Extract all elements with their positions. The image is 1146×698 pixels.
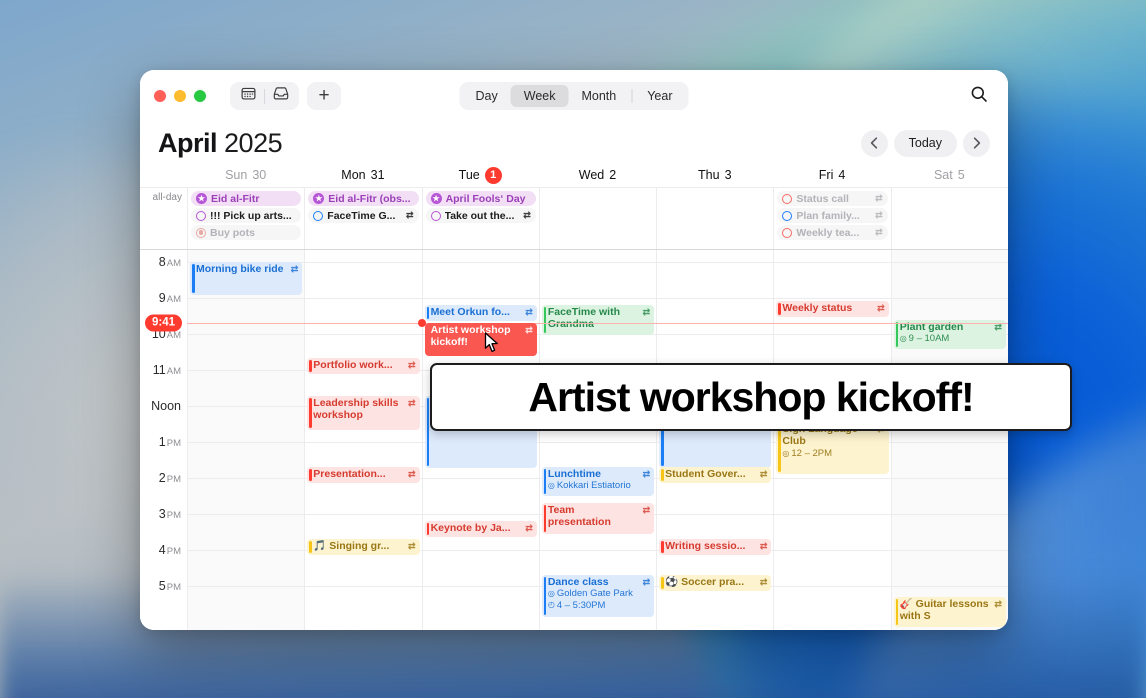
event-title: Meet Orkun fo... bbox=[431, 306, 523, 318]
hour-gridline bbox=[305, 586, 421, 587]
repeat-icon: ⇄ bbox=[408, 398, 416, 409]
location-pin-icon: ◎ bbox=[900, 334, 907, 343]
event-block[interactable]: Portfolio work...⇄ bbox=[307, 358, 419, 374]
day-header-wed[interactable]: Wed2 bbox=[539, 166, 656, 187]
hour-gridline bbox=[540, 298, 656, 299]
event-color-bar bbox=[778, 424, 781, 472]
event-color-bar bbox=[661, 469, 664, 481]
clock-icon: ◴ bbox=[548, 600, 555, 609]
repeat-icon: ⇄ bbox=[994, 599, 1002, 610]
all-day-event[interactable]: ★Eid al-Fitr bbox=[191, 191, 301, 206]
event-title: ⚽ Soccer pra... bbox=[665, 576, 757, 588]
all-day-column-3[interactable] bbox=[539, 188, 656, 249]
hour-gridline bbox=[774, 550, 890, 551]
day-column-tue[interactable]: Meet Orkun fo...⇄Artist workshop kickoff… bbox=[422, 250, 539, 630]
day-header-number: 2 bbox=[609, 168, 616, 182]
all-day-event-title: Weekly tea... bbox=[796, 227, 871, 239]
day-header-sat[interactable]: Sat5 bbox=[891, 166, 1008, 187]
hour-gridline bbox=[188, 406, 304, 407]
hour-label-meridiem: PM bbox=[167, 546, 181, 557]
all-day-event[interactable]: Plan family...⇄ bbox=[777, 208, 887, 223]
hour-gridline bbox=[892, 478, 1008, 479]
location-pin-icon: ◎ bbox=[548, 589, 555, 598]
holiday-star-icon: ★ bbox=[313, 193, 324, 204]
event-color-bar bbox=[427, 523, 430, 535]
event-color-bar bbox=[544, 577, 547, 615]
day-column-wed[interactable]: FaceTime with Grandma⇄Lunchtime⇄◎Kokkari… bbox=[539, 250, 656, 630]
event-block[interactable]: FaceTime with Grandma⇄ bbox=[542, 305, 654, 335]
event-block[interactable]: Team presentation⇄ bbox=[542, 503, 654, 534]
view-mode-month[interactable]: Month bbox=[568, 85, 629, 107]
event-title: Dance class bbox=[548, 576, 640, 588]
all-day-event[interactable]: Weekly tea...⇄ bbox=[777, 225, 887, 240]
hour-label: 1PM bbox=[159, 435, 181, 449]
current-time-line bbox=[187, 323, 1008, 324]
all-day-row: all-day ★Eid al-Fitr!!! Pick up arts...B… bbox=[140, 188, 1008, 250]
event-block[interactable]: Student Gover...⇄ bbox=[659, 467, 771, 483]
day-header-row: Sun30Mon31Tue1Wed2Thu3Fri4Sat5 bbox=[140, 166, 1008, 188]
event-tooltip: Artist workshop kickoff! bbox=[430, 363, 1072, 431]
event-block[interactable]: Morning bike ride⇄ bbox=[190, 262, 302, 295]
event-title: Writing sessio... bbox=[665, 540, 757, 552]
view-mode-week[interactable]: Week bbox=[511, 85, 569, 107]
hour-gridline bbox=[892, 298, 1008, 299]
hour-label-meridiem: AM bbox=[167, 258, 181, 269]
previous-week-button[interactable] bbox=[861, 130, 888, 157]
hour-gridline bbox=[423, 478, 539, 479]
repeat-icon: ⇄ bbox=[760, 577, 768, 588]
inbox-icon bbox=[273, 86, 289, 106]
event-location: ◎Kokkari Estiatorio bbox=[548, 480, 650, 491]
repeat-icon: ⇄ bbox=[406, 210, 414, 221]
event-title: FaceTime with Grandma bbox=[548, 306, 640, 331]
repeat-icon: ⇄ bbox=[525, 523, 533, 534]
event-meta-text: Kokkari Estiatorio bbox=[557, 480, 631, 491]
hour-gridline bbox=[657, 298, 773, 299]
hour-label: Noon bbox=[151, 399, 181, 413]
event-color-bar bbox=[309, 469, 312, 481]
all-day-event[interactable]: !!! Pick up arts... bbox=[191, 208, 301, 223]
event-title: Keynote by Ja... bbox=[431, 522, 523, 534]
day-header-number: 31 bbox=[371, 168, 385, 182]
calendar-grid[interactable]: 8AM9AM10AM11AMNoon1PM2PM3PM4PM5PM Mornin… bbox=[140, 250, 1008, 630]
event-block[interactable]: Presentation...⇄ bbox=[307, 467, 419, 483]
day-header-number: 3 bbox=[725, 168, 732, 182]
hour-label-meridiem: PM bbox=[167, 582, 181, 593]
all-day-event-title: Status call bbox=[796, 193, 871, 205]
event-color-bar bbox=[427, 307, 430, 319]
day-header-name: Sun bbox=[225, 168, 247, 182]
event-block[interactable]: 🎸 Guitar lessons with S⇄ bbox=[894, 597, 1006, 627]
tooltip-text: Artist workshop kickoff! bbox=[528, 374, 973, 421]
segment-divider bbox=[631, 89, 632, 103]
repeat-icon: ⇄ bbox=[760, 541, 768, 552]
event-color-bar bbox=[309, 541, 312, 553]
repeat-icon: ⇄ bbox=[875, 210, 883, 221]
hour-label-meridiem: AM bbox=[167, 330, 181, 341]
event-meta2-text: 4 – 5:30PM bbox=[557, 600, 606, 611]
repeat-icon: ⇄ bbox=[525, 325, 533, 336]
inbox-button[interactable] bbox=[265, 84, 297, 108]
event-title: Artist workshop kickoff! bbox=[431, 324, 523, 349]
event-color-bar bbox=[661, 541, 664, 553]
repeat-icon: ⇄ bbox=[643, 505, 651, 516]
hour-label-meridiem: PM bbox=[167, 510, 181, 521]
event-color-bar bbox=[544, 307, 547, 333]
repeat-icon: ⇄ bbox=[523, 210, 531, 221]
title-year: 2025 bbox=[224, 128, 282, 158]
event-block[interactable]: 🎵 Singing gr...⇄ bbox=[307, 539, 419, 555]
all-day-event[interactable]: Buy pots bbox=[191, 225, 301, 240]
repeat-icon: ⇄ bbox=[760, 469, 768, 480]
day-column-mon[interactable]: Portfolio work...⇄Leadership skills work… bbox=[304, 250, 421, 630]
event-block[interactable]: Weekly status⇄ bbox=[776, 301, 888, 317]
event-color-bar bbox=[544, 469, 547, 494]
zoom-button[interactable] bbox=[194, 90, 206, 102]
location-pin-icon: ◎ bbox=[548, 481, 555, 490]
chevron-left-icon bbox=[870, 137, 878, 149]
date-navigation: Today bbox=[861, 130, 990, 157]
event-location: ◎9 – 10AM bbox=[900, 333, 1002, 344]
calendar-icon bbox=[241, 86, 256, 106]
repeat-icon: ⇄ bbox=[643, 469, 651, 480]
repeat-icon: ⇄ bbox=[525, 307, 533, 318]
hour-gridline bbox=[540, 262, 656, 263]
all-day-event[interactable]: Take out the...⇄ bbox=[426, 208, 536, 223]
event-meta-text: Golden Gate Park bbox=[557, 588, 633, 599]
view-mode-segmented-control: Day Week Month Year bbox=[460, 82, 689, 110]
event-title: Morning bike ride bbox=[196, 263, 288, 275]
day-column-sat[interactable]: Plant garden⇄◎9 – 10AM🎸 Guitar lessons w… bbox=[891, 250, 1008, 630]
all-day-event[interactable]: FaceTime G...⇄ bbox=[308, 208, 418, 223]
day-header-mon[interactable]: Mon31 bbox=[304, 166, 421, 187]
day-header-number: 5 bbox=[958, 168, 965, 182]
hour-label: 5PM bbox=[159, 579, 181, 593]
holiday-star-icon: ★ bbox=[196, 193, 207, 204]
event-title: Portfolio work... bbox=[313, 359, 405, 371]
repeat-icon: ⇄ bbox=[408, 360, 416, 371]
all-day-event[interactable]: ★Eid al-Fitr (obs... bbox=[308, 191, 418, 206]
event-meta-text: 9 – 10AM bbox=[909, 333, 950, 344]
calendar-window: + Day Week Month Year April 2025 bbox=[140, 70, 1008, 630]
all-day-column-4[interactable] bbox=[656, 188, 773, 249]
all-day-column-1[interactable]: ★Eid al-Fitr (obs...FaceTime G...⇄ bbox=[304, 188, 421, 249]
hour-label: 11AM bbox=[153, 363, 181, 377]
day-header-name: Sat bbox=[934, 168, 953, 182]
page-title: April 2025 bbox=[158, 128, 282, 159]
hour-label: 3PM bbox=[159, 507, 181, 521]
hour-gridline bbox=[188, 442, 304, 443]
search-icon bbox=[970, 85, 988, 108]
grid-columns: 8AM9AM10AM11AMNoon1PM2PM3PM4PM5PM Mornin… bbox=[140, 250, 1008, 630]
all-day-event[interactable]: ★April Fools‘ Day bbox=[426, 191, 536, 206]
all-day-column-2[interactable]: ★April Fools‘ DayTake out the...⇄ bbox=[422, 188, 539, 249]
day-column-sun[interactable]: Morning bike ride⇄ bbox=[187, 250, 304, 630]
hour-gridline bbox=[423, 586, 539, 587]
event-title: 🎵 Singing gr... bbox=[313, 540, 405, 552]
day-header-fri[interactable]: Fri4 bbox=[773, 166, 890, 187]
view-mode-day[interactable]: Day bbox=[463, 85, 511, 107]
hour-gridline bbox=[657, 514, 773, 515]
hour-label-text: 1 bbox=[159, 435, 166, 449]
hour-label: 9AM bbox=[159, 291, 181, 305]
time-gutter: 8AM9AM10AM11AMNoon1PM2PM3PM4PM5PM bbox=[140, 250, 187, 630]
hour-gridline bbox=[892, 550, 1008, 551]
hour-label-text: 2 bbox=[159, 471, 166, 485]
hour-gridline bbox=[305, 334, 421, 335]
repeat-icon: ⇄ bbox=[875, 193, 883, 204]
hour-label: 4PM bbox=[159, 543, 181, 557]
event-location: ◎12 – 2PM bbox=[782, 448, 884, 459]
chevron-right-icon bbox=[973, 137, 981, 149]
day-column-thu[interactable]: Art history lecture◎11AM – 1PMStudent Go… bbox=[656, 250, 773, 630]
event-title: Lunchtime bbox=[548, 468, 640, 480]
event-block[interactable]: Plant garden⇄◎9 – 10AM bbox=[894, 320, 1006, 349]
hour-gridline bbox=[305, 442, 421, 443]
event-title: Leadership skills workshop bbox=[313, 397, 405, 422]
hour-gridline bbox=[774, 586, 890, 587]
hour-label-text: 3 bbox=[159, 507, 166, 521]
event-title: Weekly status bbox=[782, 302, 874, 314]
event-color-bar bbox=[309, 360, 312, 372]
day-header-thu[interactable]: Thu3 bbox=[656, 166, 773, 187]
event-title: Presentation... bbox=[313, 468, 405, 480]
hour-label: 2PM bbox=[159, 471, 181, 485]
day-header-number: 4 bbox=[838, 168, 845, 182]
today-date-badge: 1 bbox=[485, 167, 502, 184]
reminder-circle-icon[interactable] bbox=[196, 211, 206, 221]
hour-gridline bbox=[188, 478, 304, 479]
hour-label-text: 8 bbox=[159, 255, 166, 269]
hour-gridline bbox=[423, 298, 539, 299]
reminder-circle-icon[interactable] bbox=[782, 228, 792, 238]
toolbar-icon-group bbox=[230, 82, 299, 110]
all-day-event-title: FaceTime G... bbox=[327, 210, 402, 222]
all-day-event[interactable]: Status call⇄ bbox=[777, 191, 887, 206]
hour-gridline bbox=[774, 262, 890, 263]
event-color-bar bbox=[896, 322, 899, 347]
repeat-icon: ⇄ bbox=[643, 577, 651, 588]
event-block[interactable]: Keynote by Ja...⇄ bbox=[425, 521, 537, 537]
hour-gridline bbox=[657, 334, 773, 335]
event-color-bar bbox=[427, 398, 430, 466]
event-color-bar bbox=[778, 303, 781, 315]
current-time-badge: 9:41 bbox=[145, 314, 182, 331]
hour-label-meridiem: AM bbox=[167, 294, 181, 305]
hour-label: 8AM bbox=[159, 255, 181, 269]
repeat-icon: ⇄ bbox=[291, 264, 299, 275]
hour-label-meridiem: PM bbox=[167, 438, 181, 449]
hour-gridline bbox=[892, 442, 1008, 443]
all-day-event-title: !!! Pick up arts... bbox=[210, 210, 296, 222]
day-header-name: Wed bbox=[579, 168, 604, 182]
repeat-icon: ⇄ bbox=[408, 469, 416, 480]
event-block[interactable]: Leadership skills workshop⇄ bbox=[307, 396, 419, 430]
search-button[interactable] bbox=[964, 81, 994, 111]
day-column-fri[interactable]: Weekly status⇄Sign Language Club⇄◎12 – 2… bbox=[773, 250, 890, 630]
event-title: Team presentation bbox=[548, 504, 640, 529]
all-day-label: all-day bbox=[140, 188, 187, 249]
event-block-selected[interactable]: Artist workshop kickoff!⇄ bbox=[425, 323, 537, 356]
hour-label-meridiem: AM bbox=[167, 366, 181, 377]
all-day-column-5[interactable]: Status call⇄Plan family...⇄Weekly tea...… bbox=[773, 188, 890, 249]
all-day-event-title: Plan family... bbox=[796, 210, 871, 222]
hour-label-text: Noon bbox=[151, 399, 181, 413]
hour-gridline bbox=[774, 334, 890, 335]
next-week-button[interactable] bbox=[963, 130, 990, 157]
all-day-column-6[interactable] bbox=[891, 188, 1008, 249]
hour-label-text: 11 bbox=[153, 363, 166, 377]
reminder-circle-icon[interactable] bbox=[782, 194, 792, 204]
hour-label-text: 4 bbox=[159, 543, 166, 557]
calendar-titlebar: April 2025 Today bbox=[140, 122, 1008, 166]
all-day-event-title: Take out the... bbox=[445, 210, 520, 222]
event-block[interactable]: ⚽ Soccer pra...⇄ bbox=[659, 575, 771, 591]
hour-gridline bbox=[305, 514, 421, 515]
view-mode-year[interactable]: Year bbox=[634, 85, 685, 107]
all-day-event-title: Eid al-Fitr (obs... bbox=[328, 193, 413, 205]
reminder-circle-checked-icon[interactable] bbox=[196, 228, 206, 238]
day-header-name: Mon bbox=[341, 168, 365, 182]
repeat-icon: ⇄ bbox=[408, 541, 416, 552]
all-day-event-title: Buy pots bbox=[210, 227, 296, 239]
all-day-event-title: April Fools‘ Day bbox=[446, 193, 531, 205]
traffic-lights bbox=[154, 90, 206, 102]
hour-label-text: 9 bbox=[159, 291, 166, 305]
event-meta-text: 12 – 2PM bbox=[791, 448, 832, 459]
event-color-bar bbox=[896, 599, 899, 625]
event-color-bar bbox=[192, 264, 195, 293]
hour-gridline bbox=[540, 550, 656, 551]
hour-gridline bbox=[892, 586, 1008, 587]
calendar-view-button[interactable] bbox=[232, 84, 264, 108]
day-header-name: Thu bbox=[698, 168, 720, 182]
all-day-event-title: Eid al-Fitr bbox=[211, 193, 296, 205]
location-pin-icon: ◎ bbox=[782, 449, 789, 458]
hour-gridline bbox=[188, 334, 304, 335]
hour-gridline bbox=[188, 550, 304, 551]
close-button[interactable] bbox=[154, 90, 166, 102]
event-title: 🎸 Guitar lessons with S bbox=[900, 598, 992, 623]
day-header-name: Fri bbox=[819, 168, 834, 182]
event-title: Student Gover... bbox=[665, 468, 757, 480]
reminder-circle-icon[interactable] bbox=[431, 211, 441, 221]
event-block[interactable]: Writing sessio...⇄ bbox=[659, 539, 771, 555]
day-header-number: 30 bbox=[252, 168, 266, 182]
day-header-name: Tue bbox=[459, 168, 480, 182]
today-button[interactable]: Today bbox=[894, 130, 957, 157]
event-location: ◎Golden Gate Park bbox=[548, 588, 650, 599]
event-color-bar bbox=[309, 398, 312, 428]
title-month: April bbox=[158, 128, 217, 158]
day-header-tue[interactable]: Tue1 bbox=[422, 166, 539, 187]
hour-gridline bbox=[892, 514, 1008, 515]
event-color-bar bbox=[661, 577, 664, 589]
day-header-sun[interactable]: Sun30 bbox=[187, 166, 304, 187]
hour-gridline bbox=[188, 586, 304, 587]
hour-gridline bbox=[188, 514, 304, 515]
hour-gridline bbox=[657, 262, 773, 263]
dayheader-gutter-spacer bbox=[140, 166, 187, 187]
reminder-circle-icon[interactable] bbox=[782, 211, 792, 221]
hour-gridline bbox=[540, 442, 656, 443]
hour-gridline bbox=[423, 514, 539, 515]
event-block[interactable]: Lunchtime⇄◎Kokkari Estiatorio bbox=[542, 467, 654, 496]
hour-gridline bbox=[892, 262, 1008, 263]
hour-gridline bbox=[774, 478, 890, 479]
repeat-icon: ⇄ bbox=[877, 303, 885, 314]
holiday-star-icon: ★ bbox=[431, 193, 442, 204]
reminder-circle-icon[interactable] bbox=[313, 211, 323, 221]
hour-label-text: 5 bbox=[159, 579, 166, 593]
hour-gridline bbox=[305, 262, 421, 263]
all-day-column-0[interactable]: ★Eid al-Fitr!!! Pick up arts...Buy pots bbox=[187, 188, 304, 249]
hour-gridline bbox=[188, 298, 304, 299]
hour-gridline bbox=[423, 550, 539, 551]
repeat-icon: ⇄ bbox=[875, 227, 883, 238]
hour-gridline bbox=[423, 262, 539, 263]
window-toolbar: + Day Week Month Year bbox=[140, 70, 1008, 122]
repeat-icon: ⇄ bbox=[643, 307, 651, 318]
event-block[interactable]: Meet Orkun fo...⇄ bbox=[425, 305, 537, 321]
hour-gridline bbox=[774, 298, 890, 299]
hour-gridline bbox=[188, 370, 304, 371]
event-block[interactable]: Dance class⇄◎Golden Gate Park◴4 – 5:30PM bbox=[542, 575, 654, 617]
hour-label-meridiem: PM bbox=[167, 474, 181, 485]
add-event-button[interactable]: + bbox=[307, 82, 341, 110]
minimize-button[interactable] bbox=[174, 90, 186, 102]
hour-gridline bbox=[774, 514, 890, 515]
event-time: ◴4 – 5:30PM bbox=[548, 600, 650, 611]
event-color-bar bbox=[544, 505, 547, 532]
hour-gridline bbox=[305, 298, 421, 299]
